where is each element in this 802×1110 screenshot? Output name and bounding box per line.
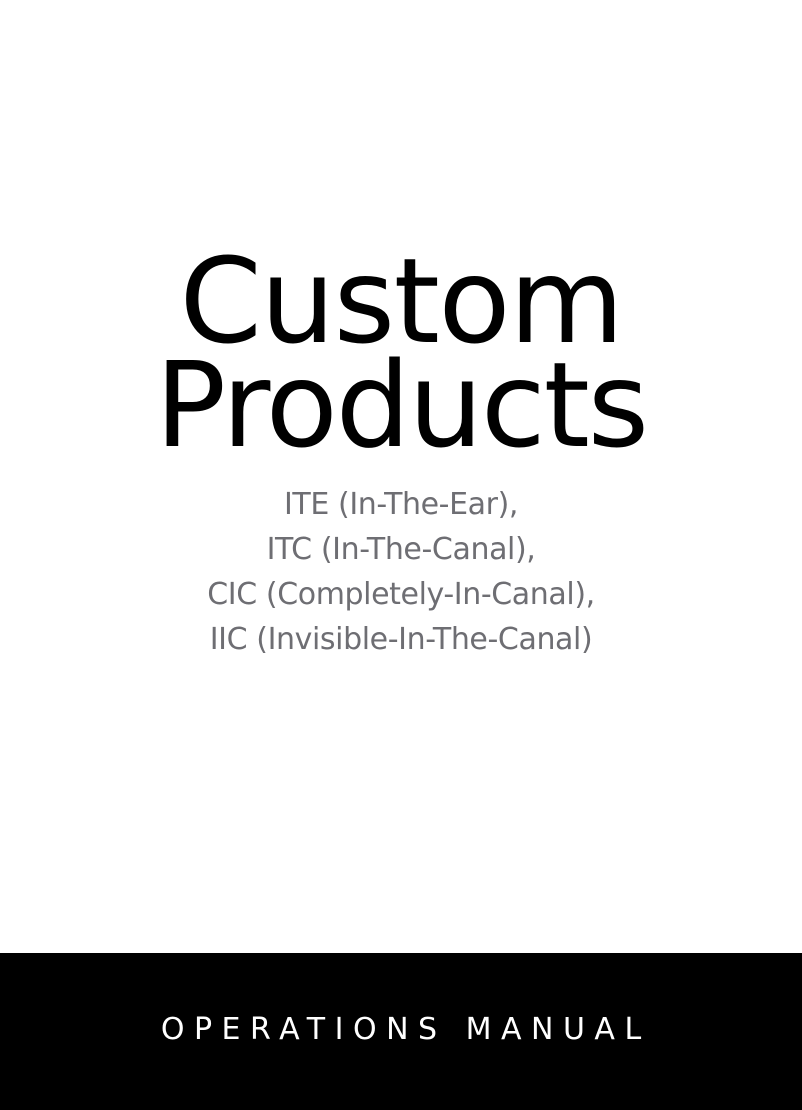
operations-manual-label: OPERATIONS MANUAL	[151, 1015, 650, 1049]
subtitle-line-ite: ITE (In-The-Ear),	[0, 482, 802, 527]
cover-text-block: Custom Products ITE (In-The-Ear), ITC (I…	[0, 250, 802, 662]
manual-cover-page: Custom Products ITE (In-The-Ear), ITC (I…	[0, 0, 802, 1110]
subtitle-line-iic: IIC (Invisible-In-The-Canal)	[0, 617, 802, 662]
page-title: Custom Products	[0, 250, 802, 458]
subtitle-line-cic: CIC (Completely-In-Canal),	[0, 572, 802, 617]
page-title-line-2: Products	[0, 354, 802, 458]
product-type-subtitle: ITE (In-The-Ear), ITC (In-The-Canal), CI…	[0, 482, 802, 662]
operations-manual-banner: OPERATIONS MANUAL	[0, 953, 802, 1110]
subtitle-line-itc: ITC (In-The-Canal),	[0, 527, 802, 572]
